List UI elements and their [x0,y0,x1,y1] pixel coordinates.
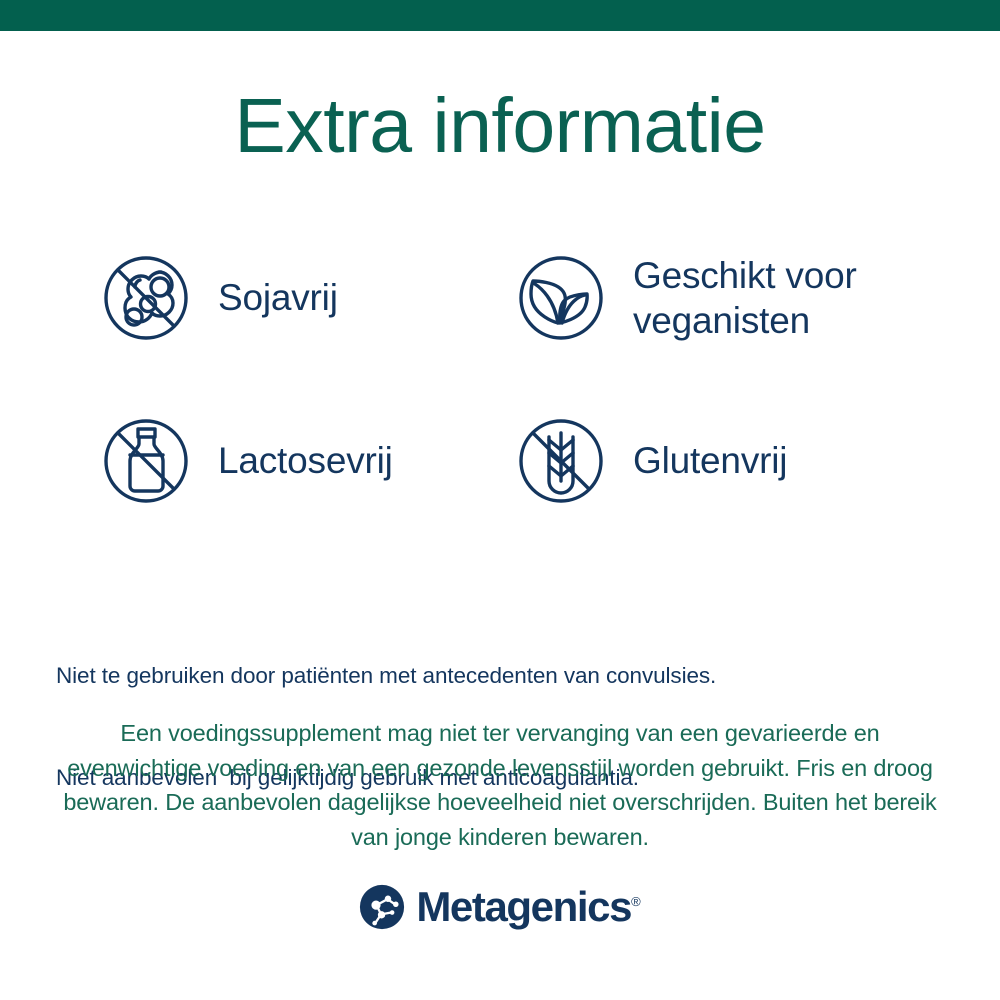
product-info-panel: Extra informatie Sojavrij [0,0,1000,1000]
brand-logo: Metagenics® [0,884,1000,930]
lactose-free-icon [96,411,196,511]
claim-label: Glutenvrij [633,438,787,483]
warning-line-1: Niet te gebruiken door patiënten met ant… [56,659,956,693]
top-accent-band [0,0,1000,31]
registered-trademark-symbol: ® [631,894,641,909]
gluten-free-icon [511,411,611,511]
logo-wordmark-text: Metagenics [416,883,631,930]
claims-row-1: Sojavrij Geschikt voor veganisten [96,248,926,348]
claim-label: Sojavrij [218,275,338,320]
claim-lactosevrij: Lactosevrij [96,411,511,511]
soy-free-icon [96,248,196,348]
metagenics-molecule-icon [359,884,405,930]
claim-glutenvrij: Glutenvrij [511,411,926,511]
disclaimer-text: Een voedingssupplement mag niet ter verv… [60,716,940,854]
vegan-leaf-icon [511,248,611,348]
claims-row-2: Lactosevrij Glutenvrij [96,411,926,511]
claim-label: Lactosevrij [218,438,393,483]
claim-sojavrij: Sojavrij [96,248,511,348]
claim-label: Geschikt voor veganisten [633,253,926,343]
claims-grid: Sojavrij Geschikt voor veganisten [96,248,926,511]
claim-veganisten: Geschikt voor veganisten [511,248,926,348]
logo-wordmark: Metagenics® [416,886,640,928]
page-title: Extra informatie [0,84,1000,169]
